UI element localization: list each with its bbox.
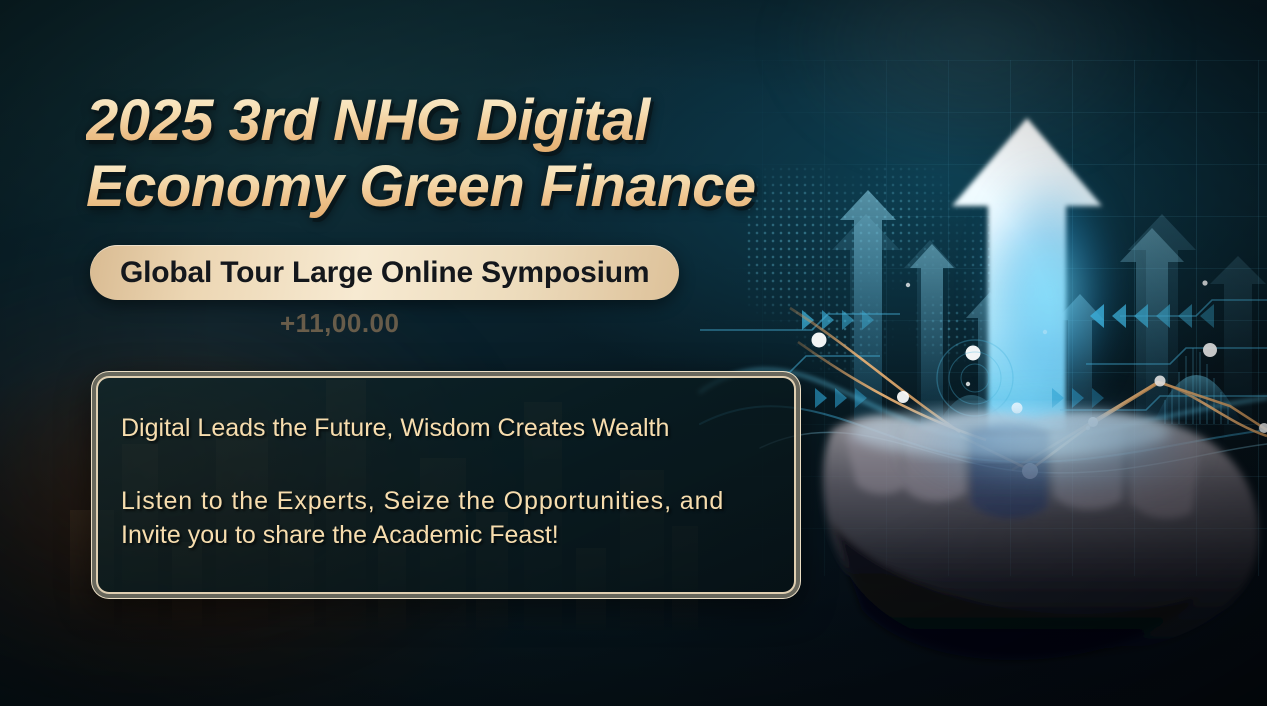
page-title: 2025 3rd NHG Digital Economy Green Finan… — [86, 88, 846, 220]
poster-canvas: 2025 3rd NHG Digital Economy Green Finan… — [0, 0, 1267, 706]
message-line-3: Invite you to share the Academic Feast! — [121, 519, 800, 552]
ticker-watermark: +11,00.00 — [280, 308, 399, 339]
subtitle-pill-label: Global Tour Large Online Symposium — [120, 256, 649, 290]
poster-content: 2025 3rd NHG Digital Economy Green Finan… — [0, 0, 1267, 706]
message-panel: Digital Leads the Future, Wisdom Creates… — [91, 371, 801, 599]
title-line-2: Economy Green Finance — [86, 154, 846, 220]
title-line-1: 2025 3rd NHG Digital — [86, 88, 846, 154]
message-line-1: Digital Leads the Future, Wisdom Creates… — [121, 412, 800, 445]
message-line-2: Listen to the Experts, Seize the Opportu… — [121, 485, 800, 518]
subtitle-pill: Global Tour Large Online Symposium — [90, 245, 679, 300]
